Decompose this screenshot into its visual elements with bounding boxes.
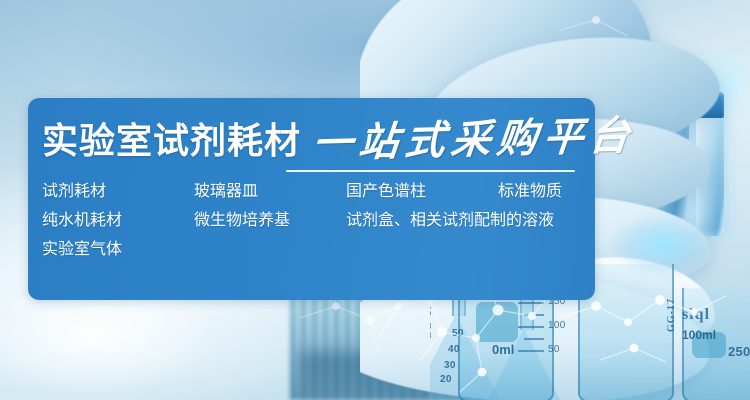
graduation-tick xyxy=(518,350,544,352)
graduation-tick xyxy=(518,326,544,328)
flask-graduation-20: 20 xyxy=(440,374,452,385)
beaker-brand-gg17-c: GG-17 xyxy=(666,298,677,332)
far-beaker-graduation-250: 250 xyxy=(728,344,750,359)
beaker-volume-0ml: 0ml xyxy=(492,342,514,357)
headline-main-text: 实验室试剂耗材 xyxy=(42,124,301,160)
promo-banner: 250 APPROX 200 150 100 50 GG-17 GG-17 GG… xyxy=(0,0,750,400)
graduation-label-100: 100 xyxy=(548,320,566,331)
headline-panel: 实验室试剂耗材 一站式采购平台 试剂耗材 玻璃器皿 国产色谱柱 标准物质 纯水机… xyxy=(28,98,595,300)
category-item-microbial-culture-media[interactable]: 微生物培养基 xyxy=(194,211,346,230)
category-item-reference-materials[interactable]: 标准物质 xyxy=(498,182,587,201)
category-item-domestic-chromatography-column[interactable]: 国产色谱柱 xyxy=(346,182,498,201)
category-grid: 试剂耗材 玻璃器皿 国产色谱柱 标准物质 纯水机耗材 微生物培养基 试剂盒、相关… xyxy=(42,182,587,259)
flask-graduation-30: 30 xyxy=(444,360,456,371)
category-item-reagent-consumables[interactable]: 试剂耗材 xyxy=(42,182,194,201)
headline-title-row: 实验室试剂耗材 一站式采购平台 xyxy=(42,120,635,160)
category-item-water-purifier-consumables[interactable]: 纯水机耗材 xyxy=(42,211,194,230)
headline-brush-text: 一站式采购平台 xyxy=(311,116,638,164)
graduation-tick xyxy=(518,302,544,304)
beaker-volume-100ml: 100ml xyxy=(682,328,716,342)
graduation-tick xyxy=(524,314,544,316)
beaker-brand-gg17-b: GG-17 xyxy=(430,303,434,340)
background-highlight-glow xyxy=(0,300,290,400)
flask-graduation-40: 40 xyxy=(448,344,460,355)
flask-graduation-50: 50 xyxy=(452,328,464,339)
graduation-tick xyxy=(524,338,544,340)
beaker-1-marking-block xyxy=(476,302,518,342)
category-item-kits-and-solutions[interactable]: 试剂盒、相关试剂配制的溶液 xyxy=(346,211,587,230)
headline-underline xyxy=(286,170,575,172)
category-item-laboratory-gases[interactable]: 实验室气体 xyxy=(42,240,194,259)
graduation-label-50: 50 xyxy=(548,344,560,355)
beaker-brand-slql: slql xyxy=(682,306,710,324)
category-item-glassware[interactable]: 玻璃器皿 xyxy=(194,182,346,201)
